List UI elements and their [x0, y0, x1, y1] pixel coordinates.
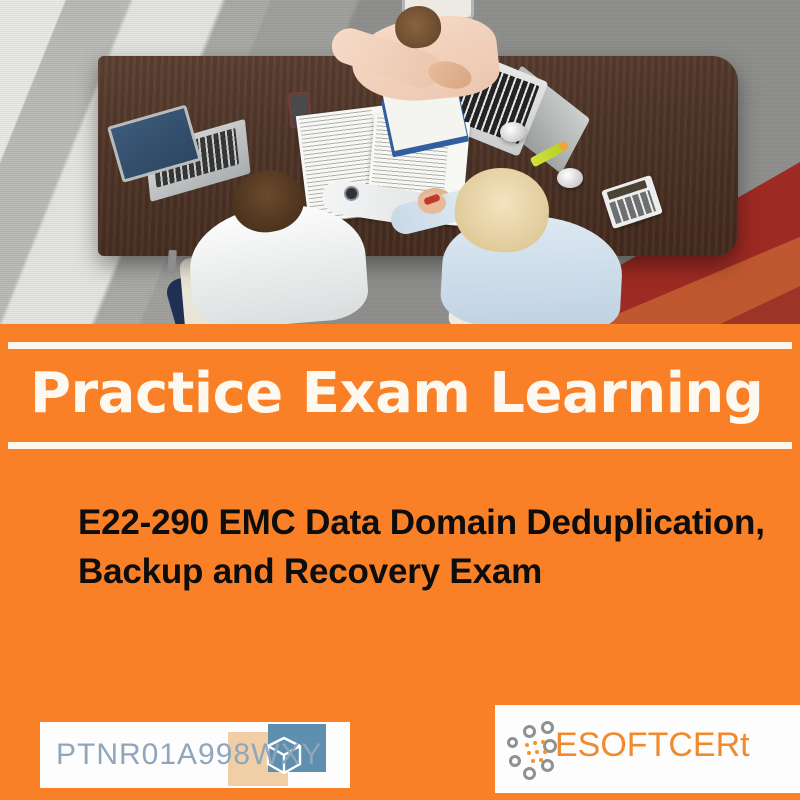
- esoftcert-wordmark: ESOFTCERt: [555, 726, 750, 765]
- ring-icon: [541, 759, 554, 772]
- cup-one: [500, 122, 526, 142]
- person-man-watch: [344, 186, 359, 201]
- header-photo: [0, 0, 800, 326]
- ring-icon: [523, 767, 536, 780]
- dot-icon: [531, 759, 535, 763]
- esoftcert-logo: ESOFTCERt: [495, 705, 800, 793]
- partner-code-text: PTNR01A998WXY: [56, 738, 322, 772]
- dot-icon: [525, 743, 529, 747]
- ring-icon: [507, 737, 518, 748]
- dot-icon: [539, 758, 543, 762]
- dot-icon: [535, 750, 539, 754]
- banner-rule-top: [8, 342, 792, 349]
- poster-root: Practice Exam Learning E22-290 EMC Data …: [0, 0, 800, 800]
- ring-icon: [523, 725, 536, 738]
- banner-title: Practice Exam Learning: [30, 354, 770, 434]
- dot-icon: [533, 741, 537, 745]
- table-leg-left: [167, 250, 177, 274]
- banner-rule-bottom: [8, 442, 792, 449]
- cup-two: [557, 168, 583, 188]
- ring-icon: [509, 755, 521, 767]
- dot-icon: [527, 751, 531, 755]
- dot-icon: [541, 740, 545, 744]
- partner-code-logo: PTNR01A998WXY: [40, 722, 350, 788]
- dot-icon: [543, 750, 547, 754]
- banner: Practice Exam Learning: [0, 326, 800, 456]
- exam-title: E22-290 EMC Data Domain Deduplication, B…: [78, 498, 768, 596]
- ring-icon: [541, 721, 554, 734]
